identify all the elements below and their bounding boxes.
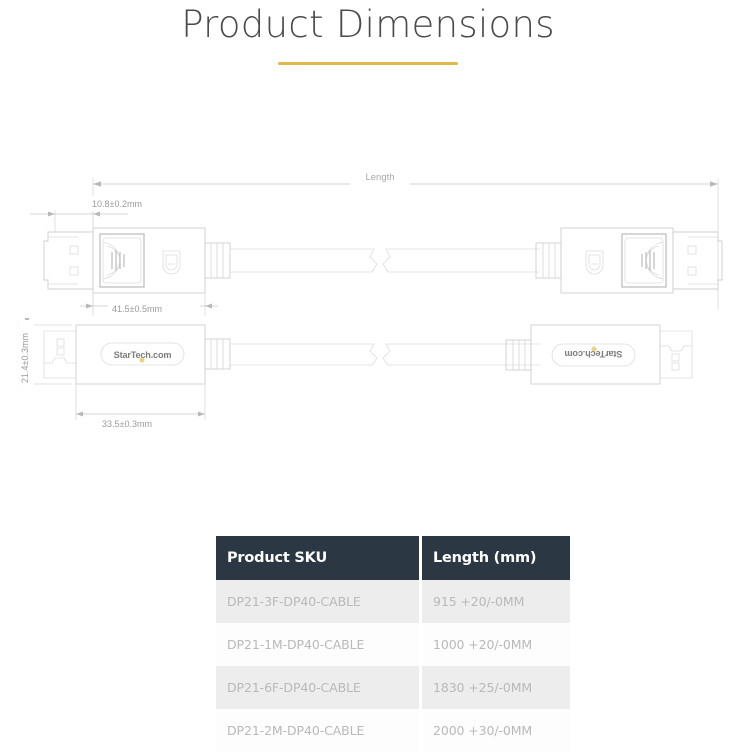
height-dimension-label: 21.4±0.3mm	[20, 333, 30, 383]
cell-length: 2000 +30/-0MM	[421, 709, 571, 752]
cell-length: 1000 +20/-0MM	[421, 623, 571, 666]
side-length-dimension-group	[76, 384, 205, 420]
table-row: DP21-1M-DP40-CABLE 1000 +20/-0MM	[216, 623, 570, 666]
length-dimension-group	[93, 178, 718, 310]
cell-sku: DP21-6F-DP40-CABLE	[216, 666, 421, 709]
cell-sku: DP21-1M-DP40-CABLE	[216, 623, 421, 666]
cable-top-view	[230, 249, 540, 272]
left-connector-top-view	[44, 228, 230, 293]
length-label: Length	[365, 172, 394, 183]
side-length-dimension-label: 33.5±0.3mm	[102, 419, 152, 429]
depth-dimension-group	[30, 206, 128, 310]
cell-length: 915 +20/-0MM	[421, 580, 571, 623]
cable-side-view	[230, 344, 540, 365]
brand-logo-left: StarTech.com	[101, 343, 184, 365]
displayport-shield-icon	[163, 251, 180, 274]
displayport-shield-icon-right	[586, 251, 603, 274]
left-connector-side-view: StarTech.com	[44, 325, 230, 384]
page-header: Product Dimensions	[0, 0, 736, 65]
product-sku-table: Product SKU Length (mm) DP21-3F-DP40-CAB…	[216, 536, 570, 752]
brand-logo-right-mirrored: StarTech.com	[552, 344, 635, 366]
table-row: DP21-2M-DP40-CABLE 2000 +30/-0MM	[216, 709, 570, 752]
column-header-sku: Product SKU	[216, 536, 421, 580]
right-connector-side-view: StarTech.com	[506, 325, 692, 384]
cell-sku: DP21-3F-DP40-CABLE	[216, 580, 421, 623]
table-header-row: Product SKU Length (mm)	[216, 536, 570, 580]
cell-sku: DP21-2M-DP40-CABLE	[216, 709, 421, 752]
column-header-length: Length (mm)	[421, 536, 571, 580]
cell-length: 1830 +25/-0MM	[421, 666, 571, 709]
page-title: Product Dimensions	[0, 0, 736, 48]
right-connector-top-view	[536, 228, 722, 293]
product-technical-drawing: Length 10.8±0.2mm	[0, 120, 736, 490]
title-underline-rule	[278, 62, 458, 65]
depth-dimension-label: 10.8±0.2mm	[92, 199, 142, 209]
table-row: DP21-6F-DP40-CABLE 1830 +25/-0MM	[216, 666, 570, 709]
table-row: DP21-3F-DP40-CABLE 915 +20/-0MM	[216, 580, 570, 623]
connector-length-dimension-label: 41.5±0.5mm	[112, 304, 162, 314]
